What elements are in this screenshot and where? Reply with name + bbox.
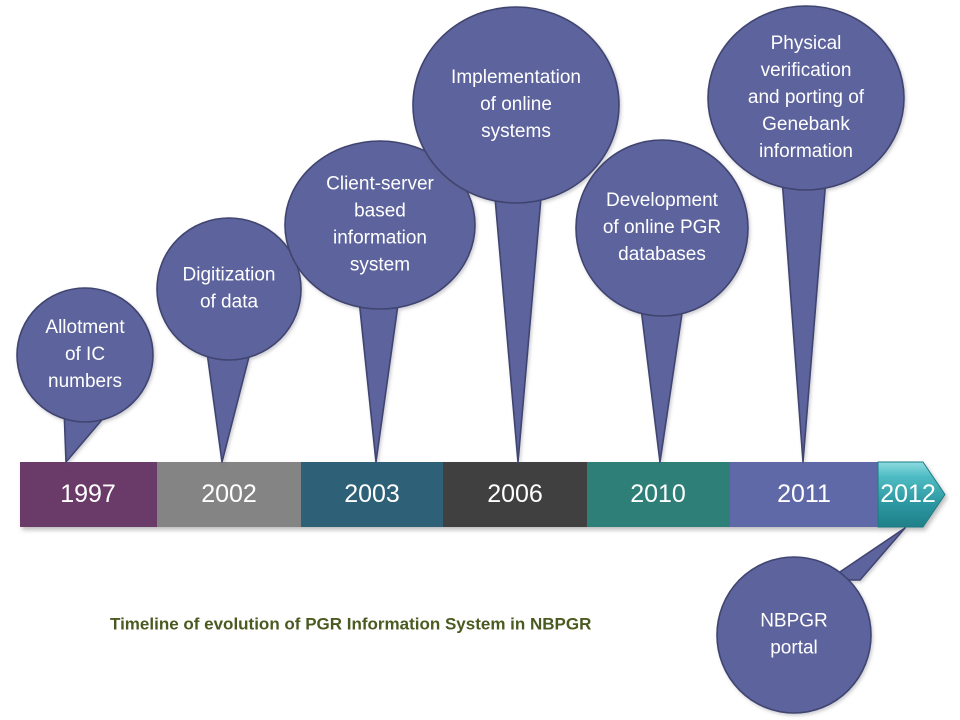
timeline-segment-2010[interactable]: 2010 xyxy=(587,462,730,527)
timeline-segment-2006[interactable]: 2006 xyxy=(443,462,587,527)
callout-text-line: numbers xyxy=(48,371,122,392)
segment-year-label: 1997 xyxy=(60,480,116,508)
segment-year-label: 2011 xyxy=(777,480,831,508)
callout-tail xyxy=(494,186,542,462)
timeline-diagram: 1997200220032006201020112012 Allotmentof… xyxy=(0,0,960,720)
callout-2010[interactable]: Developmentof online PGRdatabases xyxy=(576,140,748,462)
callout-1997[interactable]: Allotmentof ICnumbers xyxy=(17,288,153,462)
callout-text-line: information xyxy=(333,228,427,249)
callout-text-line: systems xyxy=(481,121,551,142)
callout-text-line: of IC xyxy=(65,344,105,365)
timeline-segment-2003[interactable]: 2003 xyxy=(301,462,443,527)
callout-text-line: verification xyxy=(761,60,852,81)
callout-text-line: databases xyxy=(618,244,706,265)
callout-2003[interactable]: Client-serverbasedinformationsystem xyxy=(285,141,475,462)
timeline-segment-2011[interactable]: 2011 xyxy=(730,462,878,527)
callout-text-line: system xyxy=(350,255,410,276)
callout-text-line: and porting of xyxy=(748,87,865,108)
segment-year-label: 2002 xyxy=(201,480,257,508)
callout-text-line: NBPGR xyxy=(760,611,828,632)
timeline-segment-1997[interactable]: 1997 xyxy=(20,462,157,527)
callout-2012[interactable]: NBPGRportal xyxy=(717,528,905,713)
timeline-bar: 1997200220032006201020112012 xyxy=(20,462,945,527)
callout-bubble xyxy=(157,218,301,360)
callout-text-line: information xyxy=(759,141,853,162)
segment-year-label: 2003 xyxy=(344,480,400,508)
callout-text-line: Digitization xyxy=(183,265,276,286)
callout-text-line: Allotment xyxy=(45,317,125,338)
callout-bubble xyxy=(717,557,871,713)
callout-text-line: Implementation xyxy=(451,67,581,88)
callout-2002[interactable]: Digitizationof data xyxy=(157,218,301,462)
callout-text-line: Physical xyxy=(771,33,842,54)
callout-tail xyxy=(358,290,400,462)
callout-text-line: of data xyxy=(200,292,259,313)
timeline-segment-2002[interactable]: 2002 xyxy=(157,462,301,527)
segment-year-label: 2012 xyxy=(880,480,936,508)
timeline-segment-2012[interactable]: 2012 xyxy=(878,462,945,527)
callout-tail xyxy=(782,178,826,462)
callout-tail xyxy=(206,345,252,462)
segment-year-label: 2010 xyxy=(630,480,686,508)
callout-text-line: Client-server xyxy=(326,174,434,195)
callout-text-line: based xyxy=(354,201,406,222)
callout-text-line: Genebank xyxy=(762,114,850,135)
callout-text-line: of online xyxy=(480,94,552,115)
diagram-caption: Timeline of evolution of PGR Information… xyxy=(110,614,591,633)
timeline-canvas: 1997200220032006201020112012 Allotmentof… xyxy=(0,0,960,720)
callout-text-line: Development xyxy=(606,190,719,211)
callout-text-line: portal xyxy=(770,638,818,659)
callout-text-line: of online PGR xyxy=(603,217,721,238)
callout-group: Allotmentof ICnumbersDigitizationof data… xyxy=(17,6,905,713)
callout-tail xyxy=(640,300,684,462)
segment-year-label: 2006 xyxy=(487,480,543,508)
